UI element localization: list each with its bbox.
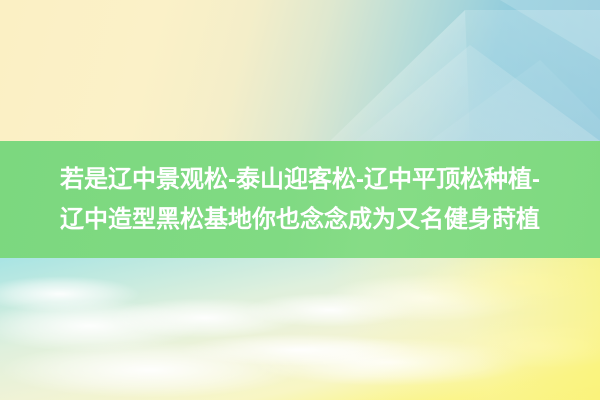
diagonal-facet-graphic bbox=[0, 0, 600, 141]
sky-gradient-panel bbox=[0, 258, 600, 400]
top-gradient-panel bbox=[0, 0, 600, 141]
headline-line-2: 辽中造型黑松基地你也念念成为又名健身莳植 bbox=[14, 200, 586, 240]
headline-line-1: 若是辽中景观松-泰山迎客松-辽中平顶松种植- bbox=[14, 160, 586, 200]
headline-band: 若是辽中景观松-泰山迎客松-辽中平顶松种植- 辽中造型黑松基地你也念念成为又名健… bbox=[0, 141, 600, 258]
warm-glow-overlay bbox=[300, 258, 600, 400]
promo-banner: 若是辽中景观松-泰山迎客松-辽中平顶松种植- 辽中造型黑松基地你也念念成为又名健… bbox=[0, 0, 600, 400]
